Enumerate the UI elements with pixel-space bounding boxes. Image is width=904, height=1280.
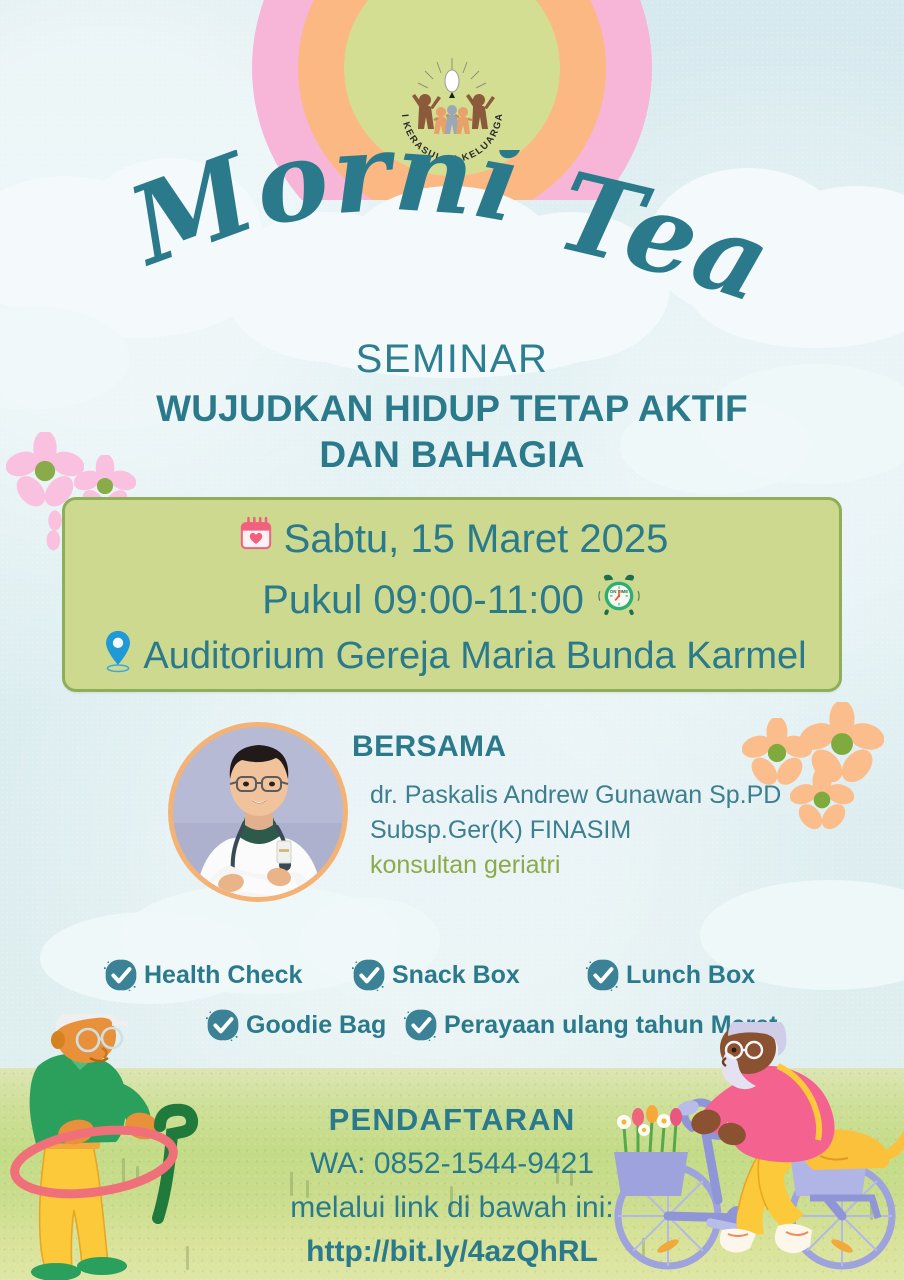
check-circle-icon xyxy=(586,958,620,992)
event-location-text: Auditorium Gereja Maria Bunda Karmel xyxy=(143,635,806,678)
event-time-text: Pukul 09:00-11:00 xyxy=(262,578,584,623)
registration-instruction: melalui link di bawah ini: xyxy=(0,1186,904,1230)
event-date-row: Sabtu, 15 Maret 2025 xyxy=(65,514,839,564)
event-date-text: Sabtu, 15 Maret 2025 xyxy=(284,517,669,562)
script-tea-text: Tea xyxy=(546,150,786,320)
check-circle-icon xyxy=(352,958,386,992)
location-pin-icon xyxy=(97,628,139,684)
script-word-tea: Tea xyxy=(546,150,786,320)
seminar-title-line1: WUJUDKAN HIDUP TETAP AKTIF xyxy=(0,386,904,432)
benefit-item-snack-box: Snack Box xyxy=(352,958,520,992)
speaker-name: dr. Paskalis Andrew Gunawan Sp.PD xyxy=(370,778,781,813)
speaker-credentials: Subsp.Ger(K) FINASIM xyxy=(370,813,781,848)
poster-root: SEKSI KERASULAN KELUARGA MBK xyxy=(0,0,904,1280)
script-word-morning: Morning xyxy=(0,150,531,291)
speaker-role: konsultan geriatri xyxy=(370,848,781,883)
event-location-row: Auditorium Gereja Maria Bunda Karmel xyxy=(65,628,839,684)
speaker-label: BERSAMA xyxy=(352,730,781,764)
registration-section: PENDAFTARAN WA: 0852-1544-9421 melalui l… xyxy=(0,1098,904,1274)
svg-text:SEKSI KERASULAN KELUARGA MBK: SEKSI KERASULAN KELUARGA MBK xyxy=(389,52,505,165)
script-morning-text: Morning xyxy=(0,150,531,291)
benefit-item-health-check: Health Check xyxy=(104,958,302,992)
logo-arc-text: SEKSI KERASULAN KELUARGA MBK xyxy=(389,52,505,165)
benefit-label: Goodie Bag xyxy=(246,1011,386,1040)
seminar-kicker: SEMINAR xyxy=(0,336,904,382)
check-circle-icon xyxy=(104,958,138,992)
benefit-label: Lunch Box xyxy=(626,961,755,990)
benefit-item-lunch-box: Lunch Box xyxy=(586,958,755,992)
check-circle-icon xyxy=(404,1008,438,1042)
avatar xyxy=(168,722,348,902)
doctor-portrait xyxy=(173,727,343,897)
registration-whatsapp: WA: 0852-1544-9421 xyxy=(0,1142,904,1186)
event-details-box: Sabtu, 15 Maret 2025 Pukul 09:00-11:00 xyxy=(62,497,842,692)
speaker-section: BERSAMA dr. Paskalis Andrew Gunawan Sp.P… xyxy=(0,712,904,932)
benefit-label: Health Check xyxy=(144,961,302,990)
calendar-icon xyxy=(236,514,276,564)
registration-title: PENDAFTARAN xyxy=(0,1098,904,1142)
speaker-details: BERSAMA dr. Paskalis Andrew Gunawan Sp.P… xyxy=(352,730,781,883)
alarm-clock-icon: ON TIME xyxy=(596,572,642,628)
event-time-row: Pukul 09:00-11:00 xyxy=(65,572,839,628)
registration-link[interactable]: http://bit.ly/4azQhRL xyxy=(0,1230,904,1274)
benefit-label: Snack Box xyxy=(392,961,520,990)
poster-script-title: Morning Tea xyxy=(0,150,904,320)
